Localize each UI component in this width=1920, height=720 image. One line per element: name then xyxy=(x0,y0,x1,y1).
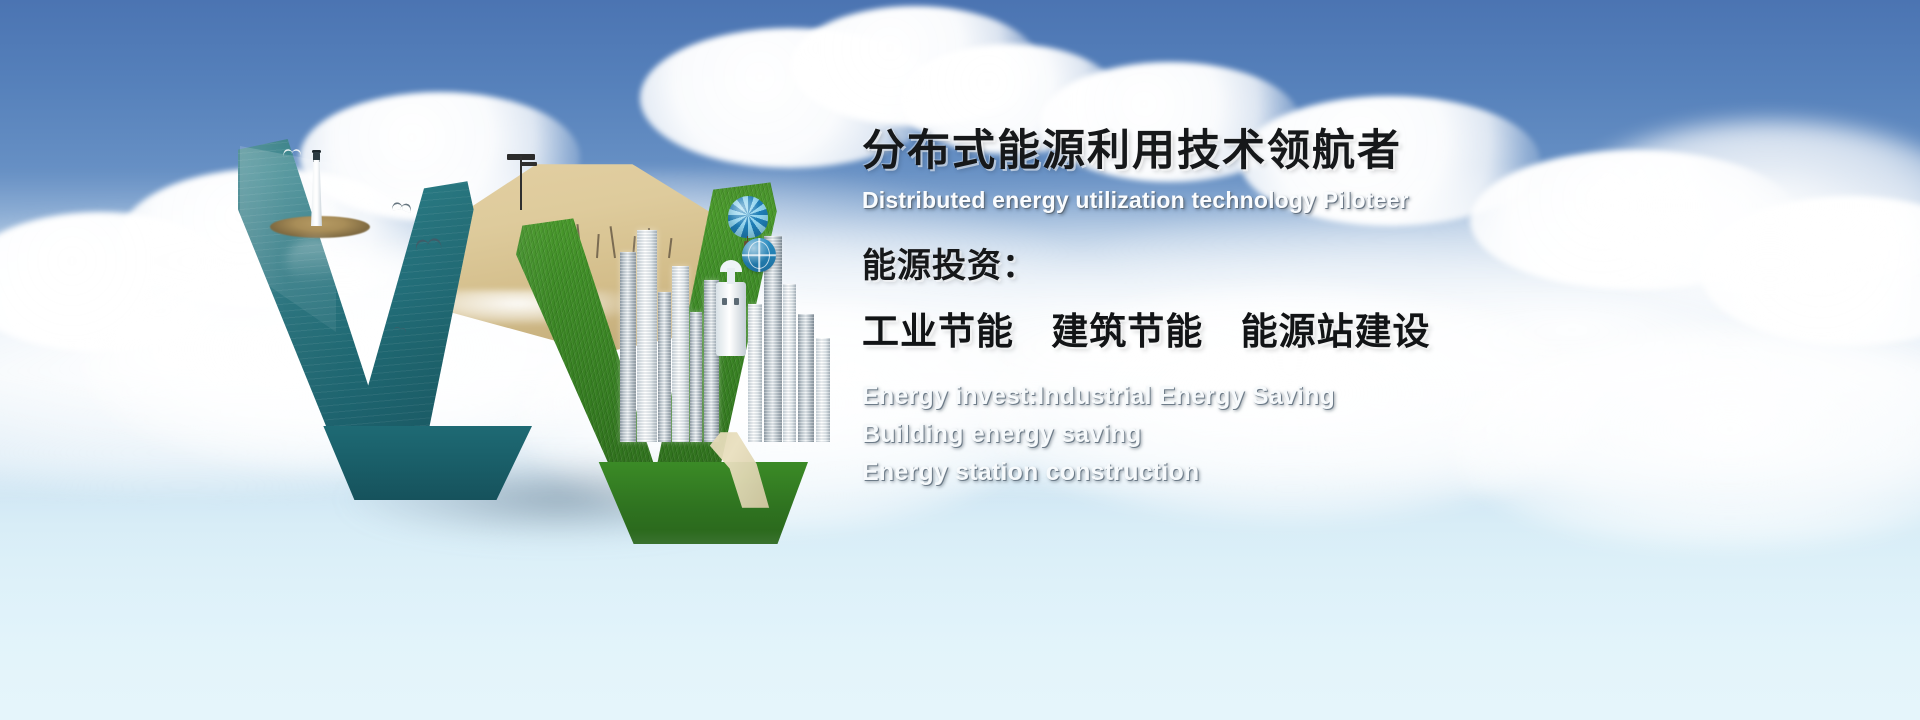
section-label-chinese: 能源投资： xyxy=(862,238,1842,287)
service-item-3: 能源站建设 xyxy=(1241,311,1431,352)
seagull-icon xyxy=(391,197,414,210)
island-reflection xyxy=(286,238,344,284)
w-letter-artwork xyxy=(238,132,868,532)
service-en-1: Energy invest:Industrial Energy Saving xyxy=(862,377,1842,415)
ground-haze xyxy=(0,530,1920,720)
city-skyline xyxy=(620,216,832,442)
seagull-icon xyxy=(413,232,444,249)
service-en-2: Building energy saving xyxy=(862,415,1842,453)
lighthouse-icon xyxy=(308,150,325,226)
signpost-icon xyxy=(503,150,539,210)
service-en-3: Energy station construction xyxy=(862,453,1842,491)
seagull-icon xyxy=(283,145,304,155)
cloud-puff xyxy=(0,212,240,352)
banner-text-block: 分布式能源利用技术领航者 Distributed energy utilizat… xyxy=(862,128,1842,491)
headline-chinese: 分布式能源利用技术领航者 xyxy=(862,128,1842,174)
services-chinese: 工业节能 建筑节能 能源站建设 xyxy=(862,301,1842,355)
subtitle-english: Distributed energy utilization technolog… xyxy=(862,187,1842,214)
dome-tower xyxy=(716,282,746,356)
service-item-2: 建筑节能 xyxy=(1051,311,1203,352)
cloud-puff xyxy=(790,6,1040,126)
hero-banner: 分布式能源利用技术领航者 Distributed energy utilizat… xyxy=(0,0,1920,720)
globe-icon xyxy=(742,238,776,272)
service-item-1: 工业节能 xyxy=(862,311,1014,352)
services-english: Energy invest:Industrial Energy Saving B… xyxy=(862,377,1842,491)
